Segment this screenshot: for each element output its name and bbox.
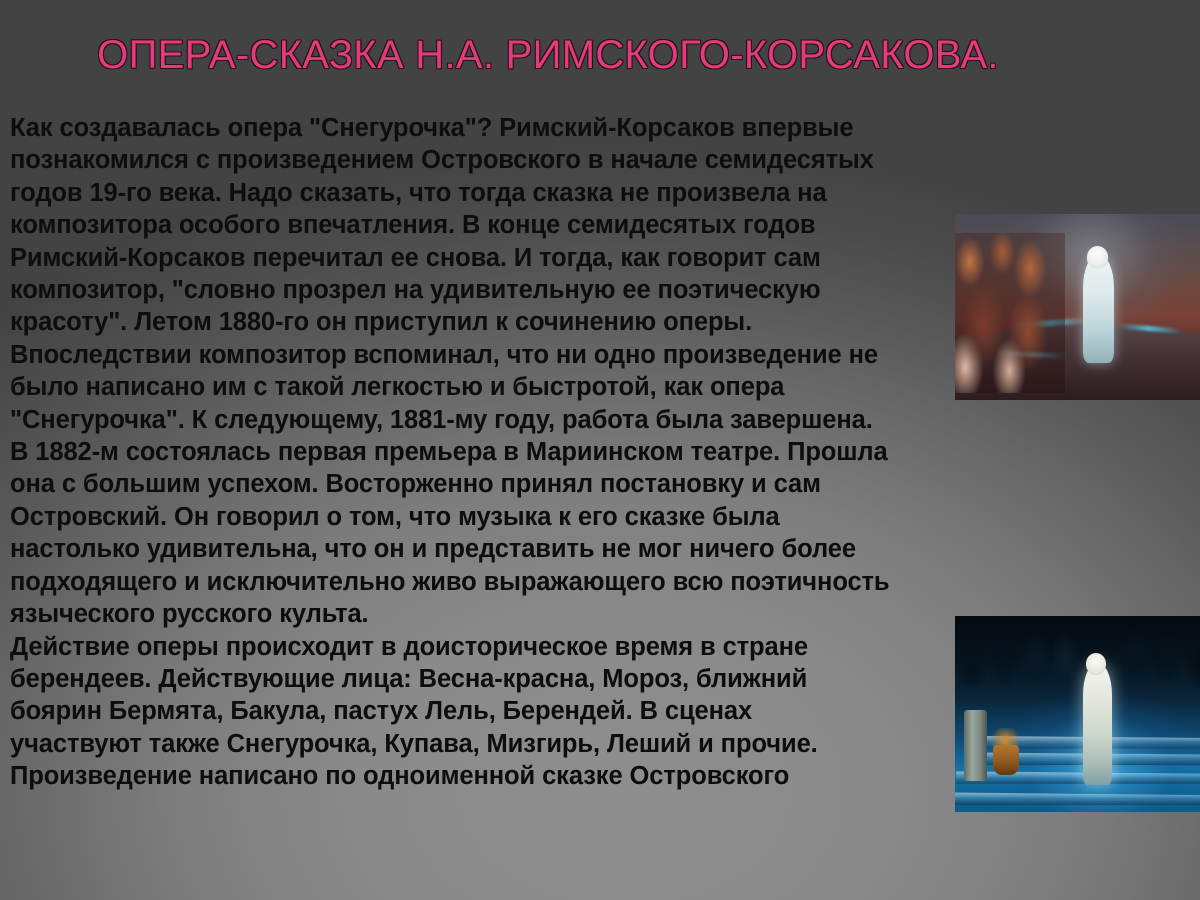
opera-stage-blue-photo xyxy=(955,616,1200,812)
body-paragraph-1: Как создавалась опера "Снегурочка"? Римс… xyxy=(10,112,890,631)
photo-canvas-crowd xyxy=(955,214,1200,400)
chorus-crowd-left xyxy=(955,233,1065,393)
stage-step xyxy=(955,752,1200,765)
snegurochka-head xyxy=(1087,246,1108,268)
stage-column-prop xyxy=(964,710,987,781)
presentation-slide: ОПЕРА-СКАЗКА Н.А. РИМСКОГО-КОРСАКОВА. Ка… xyxy=(0,0,1200,900)
body-paragraph-2: Действие оперы происходит в доисторическ… xyxy=(10,631,890,793)
stage-steps xyxy=(955,694,1200,812)
opera-stage-crowd-photo xyxy=(955,214,1200,400)
stage-step xyxy=(955,771,1200,784)
stage-basket-prop xyxy=(993,745,1019,774)
snegurochka-figure-blue xyxy=(1083,663,1112,785)
snegurochka-figure xyxy=(1083,255,1115,363)
stage-step xyxy=(955,792,1200,805)
page-title: ОПЕРА-СКАЗКА Н.А. РИМСКОГО-КОРСАКОВА. xyxy=(38,33,1058,78)
slide-body-text: Как создавалась опера "Снегурочка"? Римс… xyxy=(10,112,890,793)
snegurochka-head-blue xyxy=(1086,653,1106,675)
photo-canvas-blue xyxy=(955,616,1200,812)
chorus-crowd-right xyxy=(1112,218,1200,393)
